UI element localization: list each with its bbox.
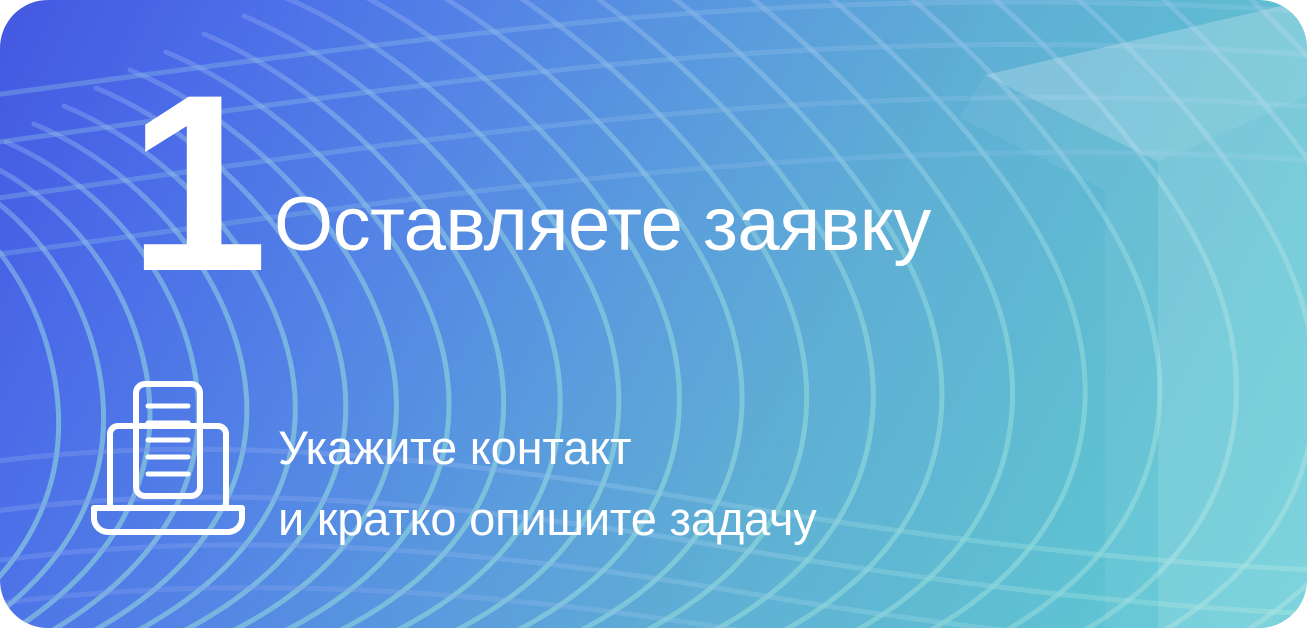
card-content: 1 Оставляете заявку Ук [0, 0, 1307, 628]
step-card: 1 Оставляете заявку Ук [0, 0, 1307, 628]
laptop-document-icon [88, 378, 248, 540]
step-number: 1 [128, 58, 262, 310]
subtitle-line-1: Укажите контакт [278, 412, 817, 483]
card-subtitle: Укажите контакт и кратко опишите задачу [278, 412, 817, 555]
page-title: Оставляете заявку [274, 184, 931, 266]
subtitle-line-2: и кратко опишите задачу [278, 483, 817, 554]
